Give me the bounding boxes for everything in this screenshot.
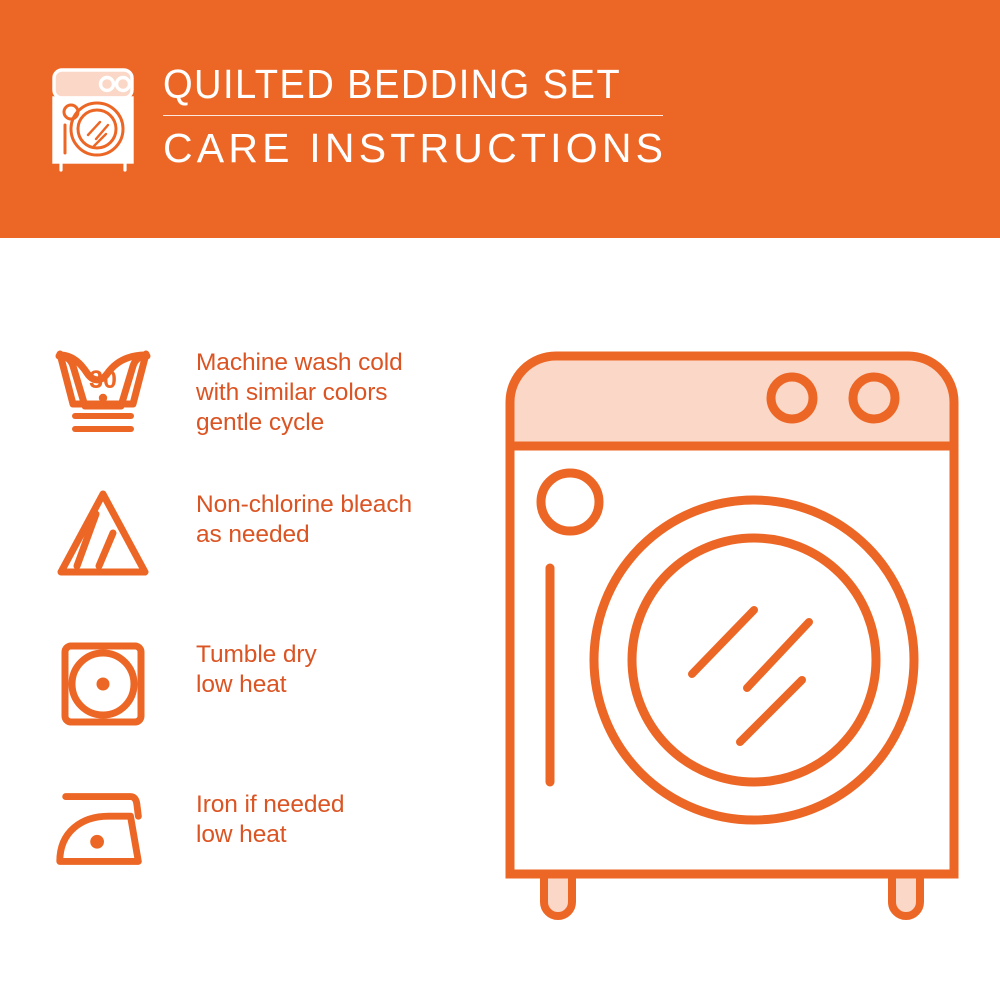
washer-knob bbox=[771, 377, 813, 419]
header-banner: QUILTED BEDDING SET CARE INSTRUCTIONS bbox=[0, 0, 1000, 238]
care-instructions-page: QUILTED BEDDING SET CARE INSTRUCTIONS bbox=[0, 0, 1000, 1000]
care-label-line: Machine wash cold bbox=[196, 348, 403, 378]
header-titles: QUILTED BEDDING SET CARE INSTRUCTIONS bbox=[163, 62, 667, 171]
care-label-line: low heat bbox=[196, 670, 317, 700]
large-washing-machine-illustration bbox=[492, 330, 972, 940]
non-chlorine-bleach-icon bbox=[48, 486, 158, 582]
washer-body bbox=[510, 446, 954, 874]
title-divider bbox=[163, 115, 663, 116]
care-label-line: with similar colors bbox=[196, 378, 403, 408]
care-row: Tumble dry low heat bbox=[48, 636, 478, 734]
care-label: Non-chlorine bleach as needed bbox=[196, 486, 412, 550]
care-label-line: Tumble dry bbox=[196, 640, 317, 670]
wash-temperature-value: 30 bbox=[89, 366, 117, 394]
care-row: 30 Machine wash cold with similar colors… bbox=[48, 344, 478, 444]
care-label: Machine wash cold with similar colors ge… bbox=[196, 344, 403, 438]
care-label-line: Iron if needed bbox=[196, 790, 344, 820]
care-row: Iron if needed low heat bbox=[48, 786, 478, 872]
washer-knob bbox=[853, 377, 895, 419]
care-row: Non-chlorine bleach as needed bbox=[48, 486, 478, 582]
care-label: Iron if needed low heat bbox=[196, 786, 344, 850]
iron-low-heat-icon bbox=[48, 786, 158, 872]
care-label-line: Non-chlorine bleach bbox=[196, 490, 412, 520]
care-label-line: gentle cycle bbox=[196, 408, 403, 438]
care-symbol-list: 30 Machine wash cold with similar colors… bbox=[0, 238, 480, 1000]
care-label: Tumble dry low heat bbox=[196, 636, 317, 700]
care-label-line: as needed bbox=[196, 520, 412, 550]
page-title: QUILTED BEDDING SET bbox=[163, 62, 632, 106]
page-subtitle: CARE INSTRUCTIONS bbox=[163, 125, 667, 171]
machine-wash-30-icon: 30 bbox=[48, 344, 158, 444]
care-label-line: low heat bbox=[196, 820, 344, 850]
tumble-dry-low-icon bbox=[48, 636, 158, 734]
washing-machine-icon bbox=[45, 67, 141, 173]
header-content: QUILTED BEDDING SET CARE INSTRUCTIONS bbox=[45, 62, 667, 173]
